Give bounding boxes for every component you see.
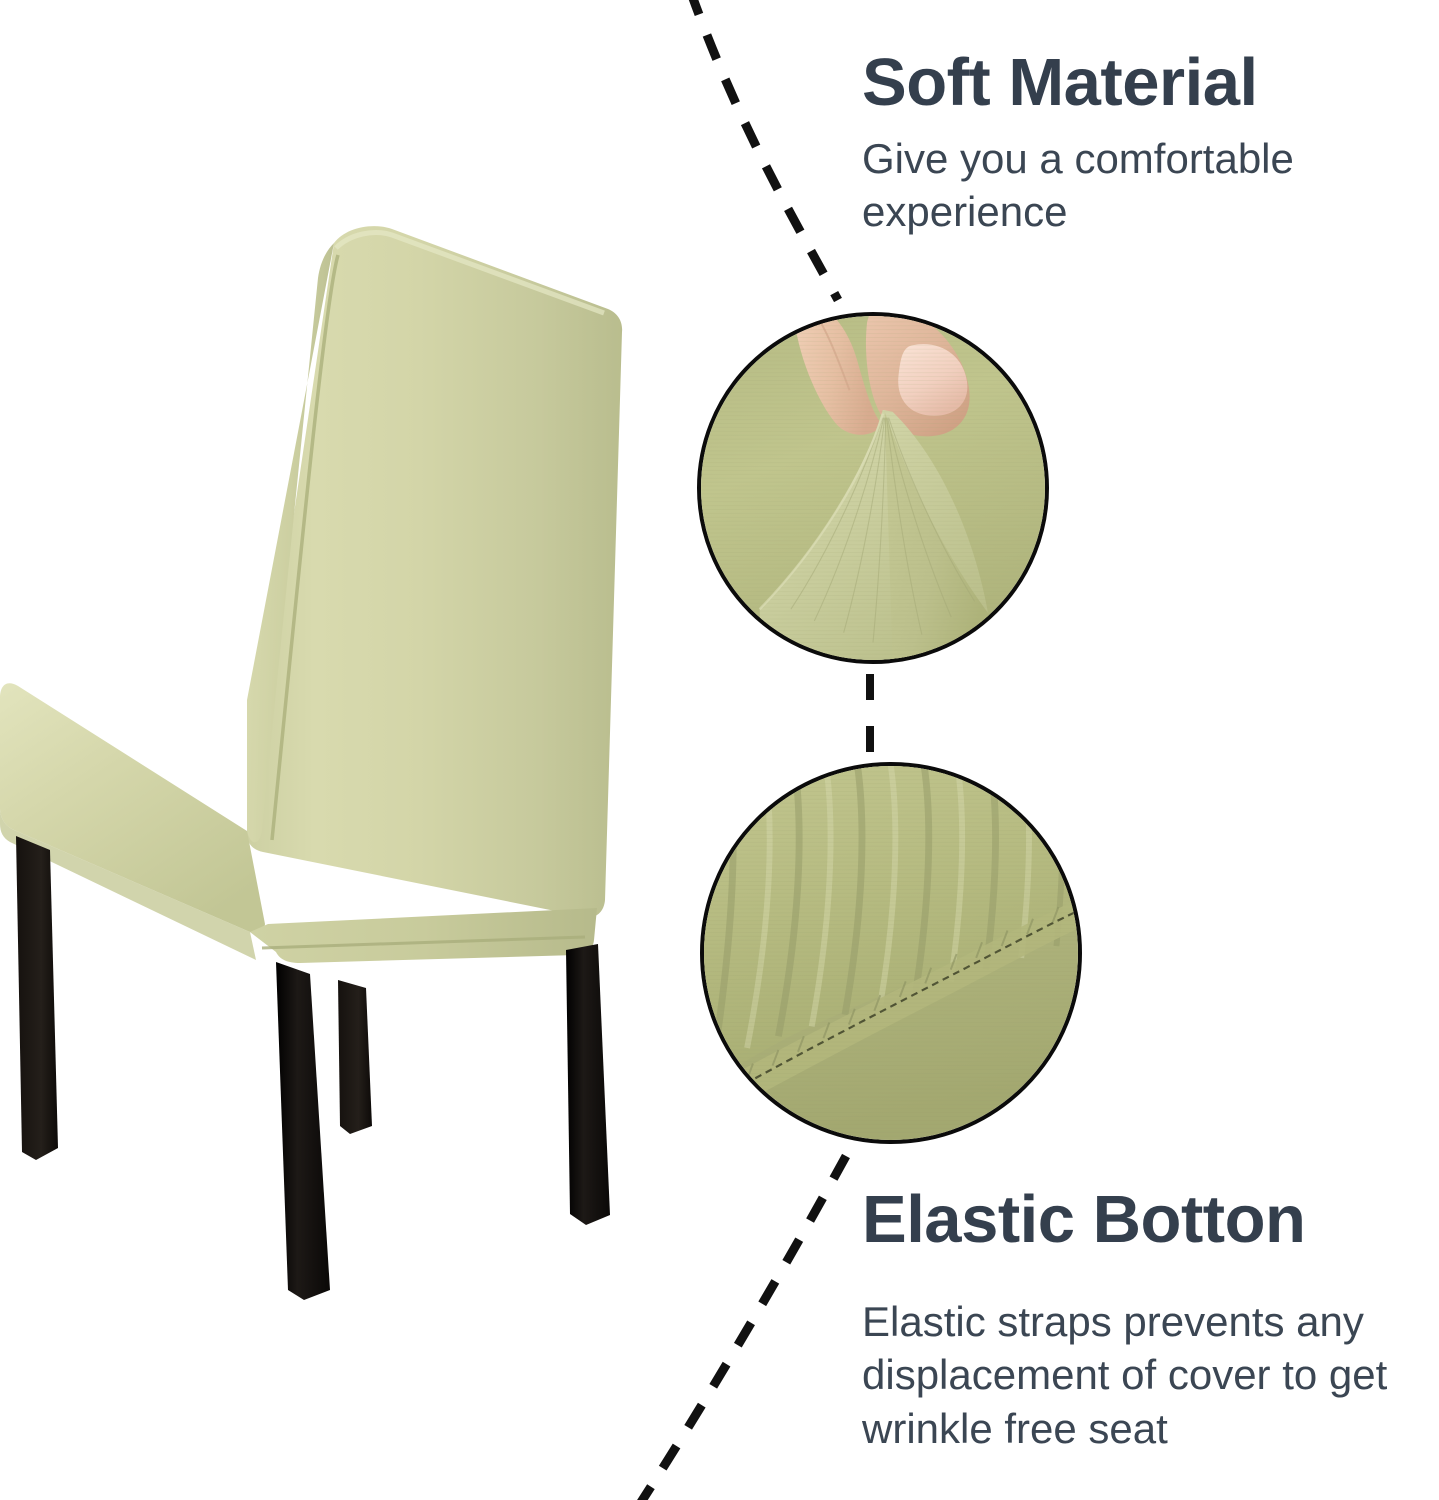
- elastic-hem-closeup: [700, 762, 1082, 1144]
- chair-backrest: [247, 226, 622, 917]
- fabric-pinch-image: [701, 316, 1045, 660]
- elastic-hem-image: [704, 766, 1078, 1140]
- feature-description-soft-material: Give you a comfortable experience: [862, 132, 1382, 240]
- feature-title-elastic-botton: Elastic Botton: [862, 1185, 1422, 1255]
- circle-connector-dashes: [866, 672, 874, 758]
- feature-description-elastic-botton: Elastic straps prevents any displacement…: [862, 1295, 1422, 1456]
- fabric-pinch-closeup: [697, 312, 1049, 664]
- chair-leg-front-left: [276, 962, 330, 1300]
- chair-leg-rear-left: [16, 836, 58, 1160]
- feature-title-soft-material: Soft Material: [862, 48, 1382, 118]
- feature-block-soft-material: Soft Material Give you a comfortable exp…: [862, 48, 1382, 239]
- chair-illustration: [0, 0, 700, 1500]
- chair-leg-rear-right: [338, 980, 372, 1134]
- feature-block-elastic-botton: Elastic Botton Elastic straps prevents a…: [862, 1185, 1422, 1456]
- chair-leg-front-right: [566, 944, 610, 1225]
- chair-photo: [0, 0, 700, 1500]
- product-infographic: Soft Material Give you a comfortable exp…: [0, 0, 1439, 1500]
- chair-cover-skirt: [250, 908, 597, 963]
- divider-segment-top: [690, 0, 838, 300]
